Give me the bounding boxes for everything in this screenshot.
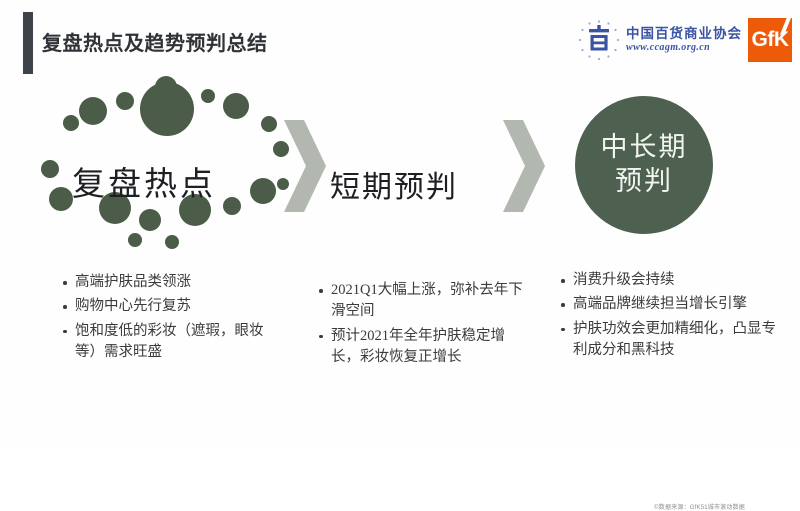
page-header: 复盘热点及趋势预判总结 [0, 0, 800, 82]
ccagm-logo-text: 中国百货商业协会 www.ccagm.org.cn [626, 27, 742, 54]
cluster-dot [128, 233, 142, 247]
gfk-logo: GfK [748, 18, 792, 62]
page-title: 复盘热点及趋势预判总结 [42, 27, 268, 56]
phase-mid-long-term-label-line1: 中长期 [601, 131, 688, 165]
bullet-item: 预计2021年全年护肤稳定增长，彩妆恢复正增长 [318, 326, 533, 369]
bullet-items-mid-long-term: 消费升级会持续高端品牌继续担当增长引擎护肤功效会更加精细化，凸显专利成分和黑科技 [560, 270, 785, 362]
cluster-dot [41, 160, 59, 178]
ccagm-url: www.ccagm.org.cn [626, 43, 742, 53]
cluster-dot [140, 82, 194, 136]
cluster-dot [63, 115, 79, 131]
ccagm-name-cn: 中国百货商业协会 [626, 27, 742, 41]
bullet-items-review: 高端护肤品类领涨购物中心先行复苏饱和度低的彩妆（遮瑕，眼妆等）需求旺盛 [62, 272, 282, 364]
content-stage: 复盘热点 短期预判 中长期 预判 高端护肤品类领涨购物中心先行复苏饱和度低的彩妆… [0, 82, 800, 450]
bullet-item: 消费升级会持续 [560, 270, 785, 291]
bullet-item: 高端护肤品类领涨 [62, 272, 282, 293]
phase-review-label: 复盘热点 [72, 157, 216, 205]
logo-zone: 中国百货商业协会 www.ccagm.org.cn GfK [577, 14, 792, 66]
bullet-list-mid-long-term: 消费升级会持续高端品牌继续担当增长引擎护肤功效会更加精细化，凸显专利成分和黑科技 [560, 270, 785, 365]
bullet-item: 购物中心先行复苏 [62, 296, 282, 317]
cluster-dot [201, 89, 215, 103]
cluster-dot [223, 93, 249, 119]
cluster-dot [116, 92, 134, 110]
bullet-item: 护肤功效会更加精细化，凸显专利成分和黑科技 [560, 319, 785, 362]
chevron-right-icon-1 [284, 120, 326, 212]
bullet-item: 2021Q1大幅上涨，弥补去年下滑空间 [318, 280, 533, 323]
cluster-dot [223, 197, 241, 215]
cluster-dot [79, 97, 107, 125]
cluster-dot [250, 178, 276, 204]
cluster-dot [49, 187, 73, 211]
phase-mid-long-term-label-line2: 预判 [615, 165, 673, 199]
bullet-list-review: 高端护肤品类领涨购物中心先行复苏饱和度低的彩妆（遮瑕，眼妆等）需求旺盛 [62, 272, 282, 367]
title-accent-bar [23, 12, 33, 74]
ccagm-association-logo: 中国百货商业协会 www.ccagm.org.cn [577, 18, 742, 62]
phase-short-term-label: 短期预判 [330, 162, 458, 206]
cluster-dot [261, 116, 277, 132]
bullet-items-short-term: 2021Q1大幅上涨，弥补去年下滑空间预计2021年全年护肤稳定增长，彩妆恢复正… [318, 280, 533, 369]
data-source-note: ©数据来源：GfK51城市滚动数据 [0, 502, 745, 511]
cluster-dot [165, 235, 179, 249]
bullet-item: 高端品牌继续担当增长引擎 [560, 294, 785, 315]
bullet-item: 饱和度低的彩妆（遮瑕，眼妆等）需求旺盛 [62, 321, 282, 364]
phase-mid-long-term-circle: 中长期 预判 [575, 96, 713, 234]
chevron-right-icon-2 [503, 120, 545, 212]
ccagm-emblem-icon [577, 18, 621, 62]
cluster-dot [139, 209, 161, 231]
bullet-list-short-term: 2021Q1大幅上涨，弥补去年下滑空间预计2021年全年护肤稳定增长，彩妆恢复正… [318, 280, 533, 372]
